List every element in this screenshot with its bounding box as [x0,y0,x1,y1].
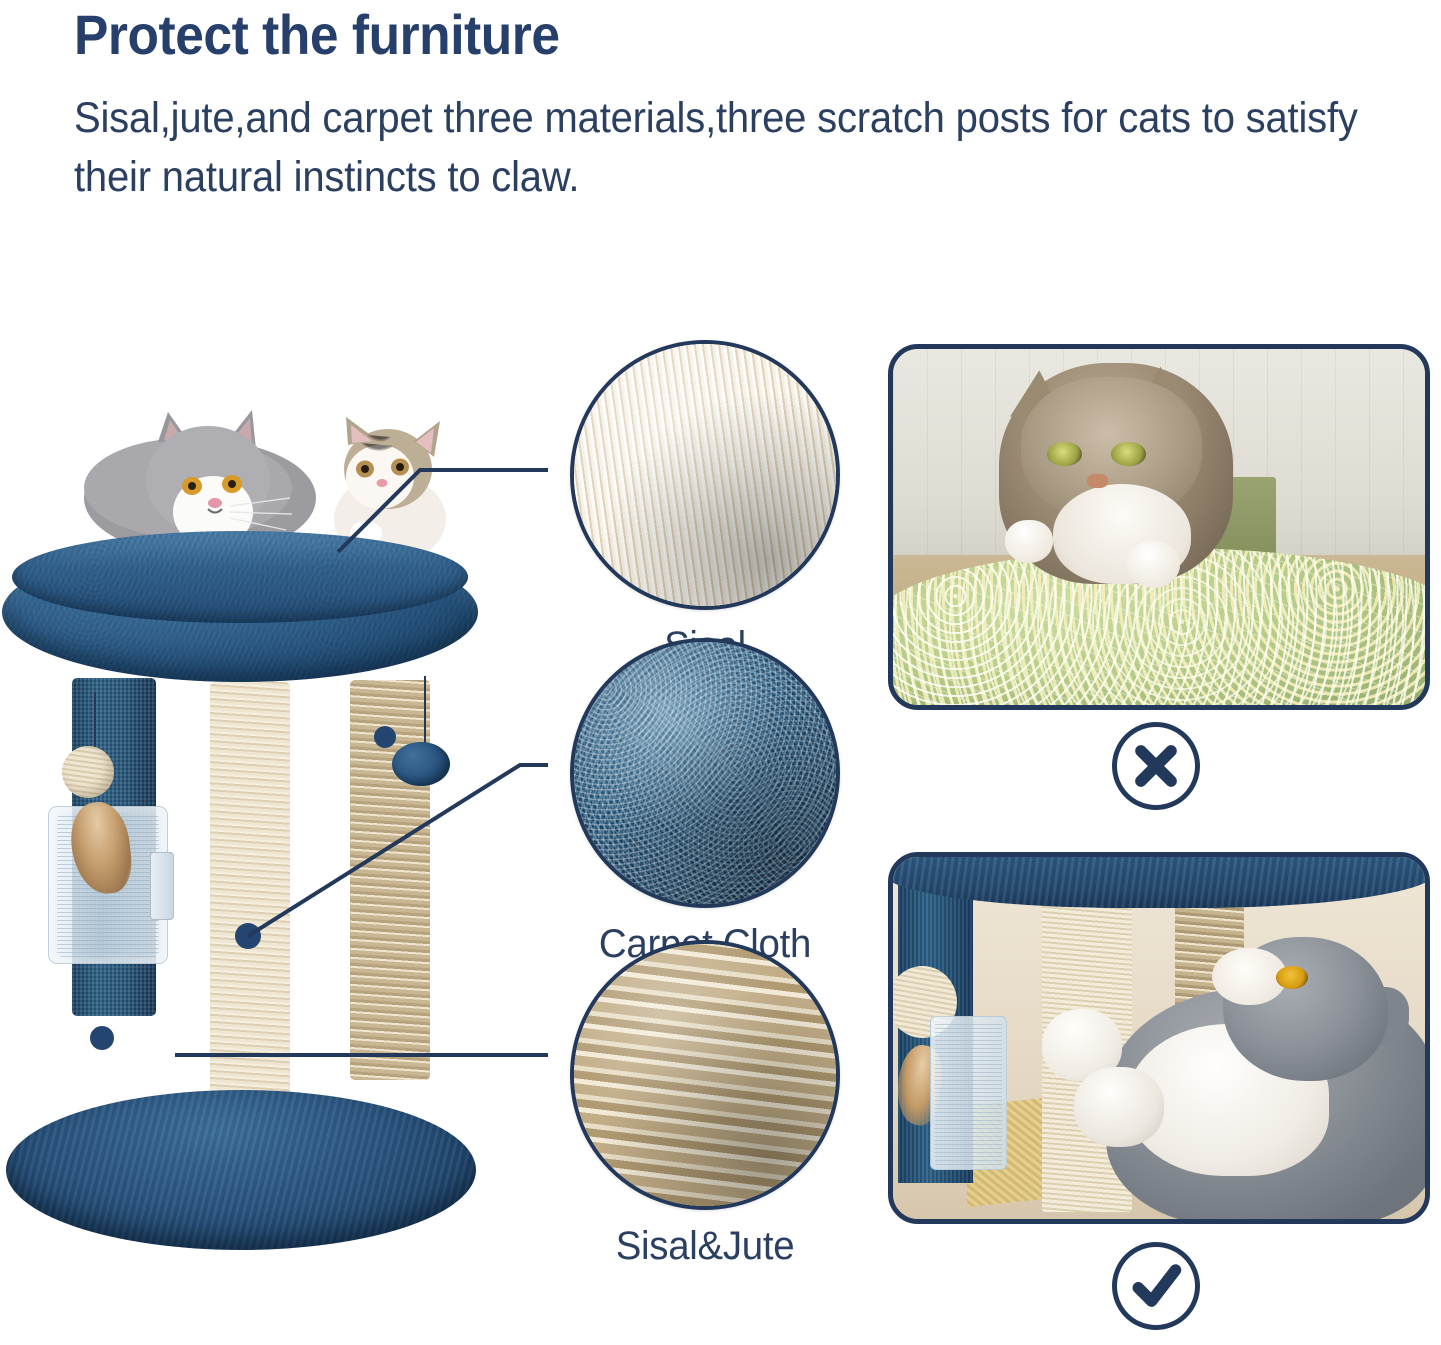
material-swatch-carpet-cloth: Carpet Cloth [570,638,840,967]
material-swatch-sisal: Sisal [570,340,840,669]
cross-glyph [1117,727,1195,805]
cat-tree-product-photo [0,390,520,1220]
cat-using-scratch-post-photo [888,852,1430,1224]
swatch-shading [574,944,836,1206]
post-marker-dot [90,1026,114,1050]
bed-rim [12,531,468,623]
page-title: Protect the furniture [74,6,1307,63]
pompom-anchor-dot [374,726,396,748]
cat-nose [1087,474,1108,488]
check-icon [1112,1242,1200,1330]
grey-cat-eye [1276,966,1308,990]
sisal-ball-string [94,692,96,752]
plush-base [6,1090,476,1250]
cat-paw-left [1005,520,1053,563]
material-label-sisal-jute: Sisal&Jute [575,1224,834,1269]
cat-eye-left [1047,442,1082,467]
bed-rim-fur-texture [12,531,468,623]
sisal-ball-toy [62,746,114,798]
swatch-shading [574,642,836,904]
page-subtitle: Sisal,jute,and carpet three materials,th… [74,89,1404,208]
sisal-post [210,682,290,1152]
header: Protect the furniture Sisal,jute,and car… [74,6,1414,208]
cat-paw-right [1127,541,1180,587]
swatch-shading [574,344,836,606]
bad-example-scene [893,349,1425,705]
good-example-scene [893,857,1425,1219]
sisal-jute-rope-swatch [570,940,840,1210]
infographic-page: Protect the furniture Sisal,jute,and car… [0,0,1441,1345]
plush-bed-underside [888,852,1430,908]
brush-bristles-photo [935,1021,1001,1165]
blue-pompom-toy [392,742,450,786]
pompom-string [424,676,426,746]
carpet-cloth-swatch [570,638,840,908]
cat-lower-paw [1074,1067,1164,1147]
brush-clip [150,852,174,920]
cross-icon [1112,722,1200,810]
sisal-rope-swatch [570,340,840,610]
cat-eye-right [1111,442,1146,467]
check-glyph [1117,1247,1195,1325]
cat-shredding-sofa-photo [888,344,1430,710]
grooming-brush-photo [930,1016,1006,1170]
material-swatch-sisal-jute: Sisal&Jute [570,940,840,1269]
